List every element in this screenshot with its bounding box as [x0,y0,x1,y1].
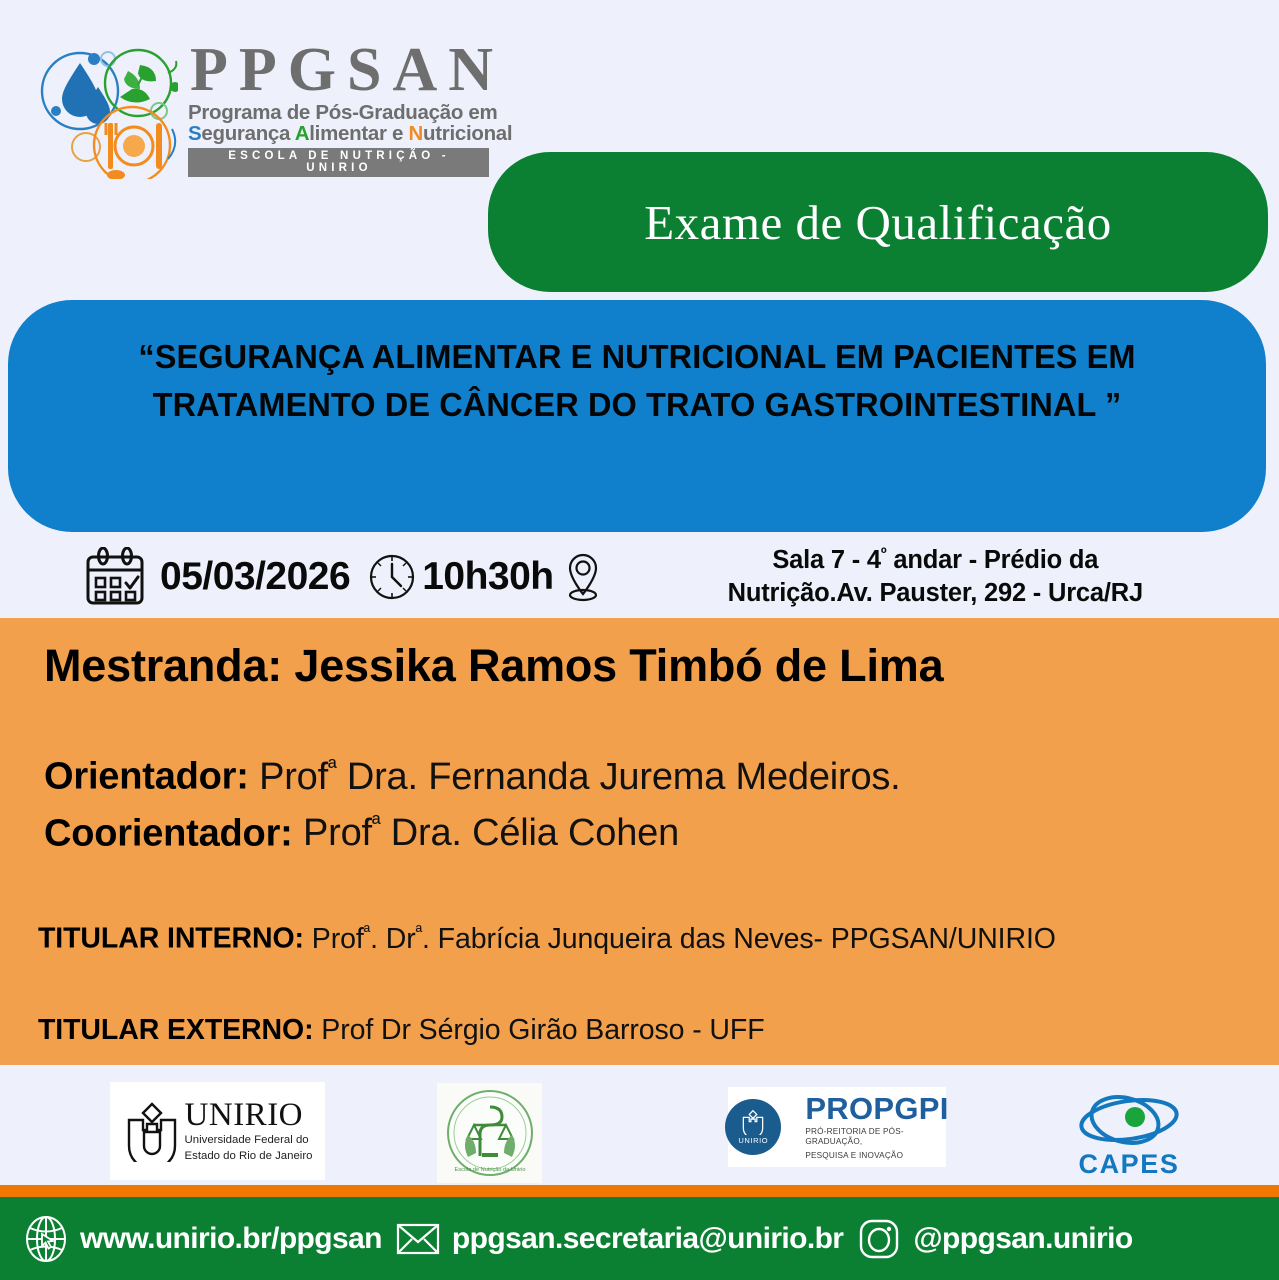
event-date: 05/03/2026 [160,555,350,599]
ppgsan-logo-mark [28,39,178,179]
contact-footer: www.unirio.br/ppgsan ppgsan.secretaria@u… [0,1197,1279,1280]
student-line: Mestranda: Jessika Ramos Timbó de Lima [44,640,1243,692]
website-item[interactable]: www.unirio.br/ppgsan [22,1215,394,1263]
san-s: S [188,122,201,145]
event-time: 10h30h [422,555,553,599]
escola-seal-text: Escola de Nutrição da Unirio [454,1167,525,1173]
globe-icon [22,1215,70,1263]
event-type-label: Exame de Qualificação [644,194,1112,251]
instagram-item[interactable]: @ppgsan.unirio [855,1215,1144,1263]
internal-member-line: TITULAR INTERNO: Profª. Drª. Fabrícia Ju… [38,921,1243,956]
advisor-label: Orientador: [44,756,249,798]
poster-canvas: PPGSAN Programa de Pós-Graduação em Segu… [0,0,1279,1280]
thesis-title-line1: “SEGURANÇA ALIMENTAR E NUTRICIONAL EM PA… [89,334,1185,382]
unirio-emblem-icon [123,1100,181,1162]
unirio-subtitle-line1: Universidade Federal do [185,1134,313,1148]
student-label: Mestranda: [44,640,282,691]
event-info-row: 05/03/2026 10h30h Sala 7 [0,536,1279,618]
calendar-icon [84,547,146,607]
student-name: Jessika Ramos Timbó de Lima [294,640,943,691]
escola-nutricao-logo: Escola de Nutrição da Unirio [437,1083,542,1183]
capes-logo: CAPES [1070,1084,1188,1184]
internal-member-label: TITULAR INTERNO: [38,923,304,955]
event-location-line1: Sala 7 - 4º andar - Prédio da [628,544,1243,577]
thesis-title-block: “SEGURANÇA ALIMENTAR E NUTRICIONAL EM PA… [8,300,1266,532]
ppgsan-acronym: PPGSAN [190,41,512,100]
external-member-line: TITULAR EXTERNO: Prof Dr Sérgio Girão Ba… [38,1014,1243,1047]
san-utricional: utricional [423,122,512,145]
website-text: www.unirio.br/ppgsan [80,1222,382,1256]
propgpi-name: PROPGPI [805,1093,948,1124]
people-section: Mestranda: Jessika Ramos Timbó de Lima O… [0,618,1279,1065]
clock-icon [368,553,416,601]
san-egurança: egurança [201,122,294,145]
envelope-icon [394,1215,442,1263]
propgpi-subtitle-line2: PESQUISA E INOVAÇÃO [805,1151,948,1161]
ppgsan-school-bar: ESCOLA DE NUTRIÇÃO - UNIRIO [188,148,489,177]
unirio-badge-icon [740,1109,766,1135]
event-type-banner: Exame de Qualificação [488,152,1268,292]
coadvisor-name: Profª Dra. Célia Cohen [303,812,679,854]
escola-nutricao-seal-icon: Escola de Nutrição da Unirio [444,1087,536,1179]
event-location-line2: Nutrição.Av. Pauster, 292 - Urca/RJ [628,577,1243,610]
propgpi-subtitle-line1: PRÓ-REITORIA DE PÓS-GRADUAÇÃO, [805,1127,948,1148]
external-member-label: TITULAR EXTERNO: [38,1014,313,1046]
propgpi-logo-text: PROPGPI PRÓ-REITORIA DE PÓS-GRADUAÇÃO, P… [805,1093,948,1161]
propgpi-unirio-badge: UNIRIO [725,1099,781,1155]
email-text: ppgsan.secretaria@unirio.br [452,1222,844,1256]
coadvisor-line: Coorientador: Profª Dra. Célia Cohen [44,811,1243,856]
unirio-subtitle-line2: Estado do Rio de Janeiro [185,1150,313,1164]
advisor-name: Profª Dra. Fernanda Jurema Medeiros. [259,756,900,798]
propgpi-badge-label: UNIRIO [738,1136,768,1145]
coadvisor-label: Coorientador: [44,812,293,854]
san-n: N [409,122,424,145]
unirio-name: UNIRIO [185,1099,313,1132]
san-a: A [295,122,310,145]
ppgsan-subtitle-line2: Segurança Alimentar e Nutricional [188,123,512,145]
ppgsan-logo-text: PPGSAN Programa de Pós-Graduação em Segu… [188,41,512,177]
ppgsan-logo: PPGSAN Programa de Pós-Graduação em Segu… [28,34,528,184]
thesis-title-line2: TRATAMENTO DE CÂNCER DO TRATO GASTROINTE… [89,382,1185,430]
footer-accent-stripe [0,1185,1279,1197]
capes-name: CAPES [1078,1149,1179,1180]
advisor-line: Orientador: Profª Dra. Fernanda Jurema M… [44,754,1243,799]
instagram-icon [855,1215,903,1263]
external-member-name: Prof Dr Sérgio Girão Barroso - UFF [321,1014,764,1046]
water-plant-meal-icon [28,39,178,179]
unirio-logo: UNIRIO Universidade Federal do Estado do… [110,1082,325,1180]
email-item[interactable]: ppgsan.secretaria@unirio.br [394,1215,856,1263]
event-location: Sala 7 - 4º andar - Prédio da Nutrição.A… [628,544,1279,609]
ppgsan-subtitle-line1: Programa de Pós-Graduação em [188,102,512,124]
san-limentar: limentar e [309,122,408,145]
location-pin-icon [564,552,602,602]
capes-emblem-icon [1073,1089,1185,1151]
unirio-logo-text: UNIRIO Universidade Federal do Estado do… [185,1099,313,1163]
internal-member-name: Profª. Drª. Fabrícia Junqueira das Neves… [312,923,1056,955]
instagram-text: @ppgsan.unirio [913,1222,1132,1256]
event-datetime-group: 05/03/2026 10h30h [84,547,602,607]
propgpi-logo: UNIRIO PROPGPI PRÓ-REITORIA DE PÓS-GRADU… [728,1087,946,1167]
